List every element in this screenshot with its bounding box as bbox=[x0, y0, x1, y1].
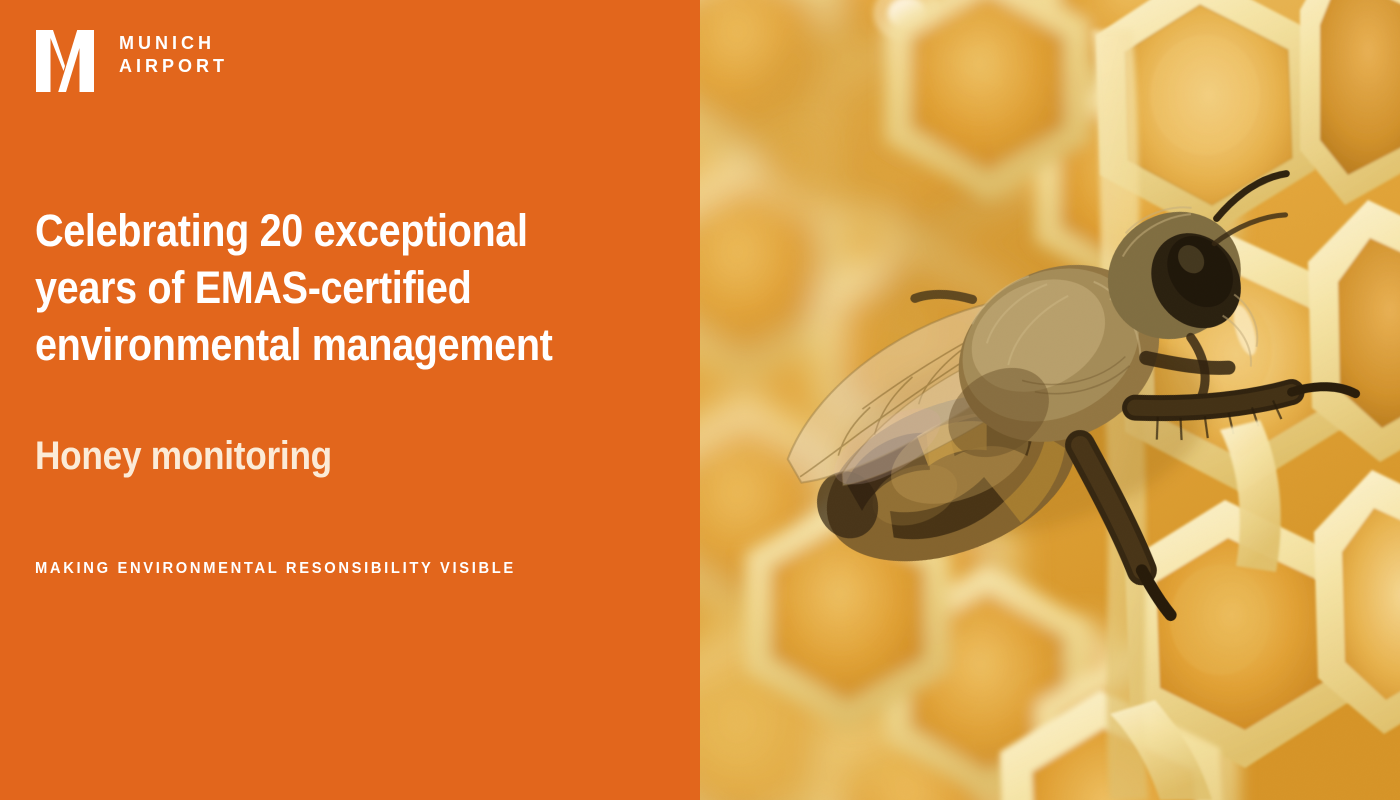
poster: MUNICH AIRPORT Celebrating 20 exceptiona… bbox=[0, 0, 1400, 800]
honeybee-honeycomb-photo bbox=[700, 0, 1400, 800]
honeycomb-illustration bbox=[700, 0, 1400, 800]
wordmark-line-airport: AIRPORT bbox=[119, 55, 228, 78]
munich-airport-wordmark: MUNICH AIRPORT bbox=[119, 26, 228, 78]
wordmark-line-munich: MUNICH bbox=[119, 32, 228, 55]
munich-airport-logo: MUNICH AIRPORT bbox=[33, 26, 228, 96]
page-subheadline: Honey monitoring bbox=[35, 432, 598, 480]
page-headline: Celebrating 20 exceptional years of EMAS… bbox=[35, 202, 598, 373]
brand-panel: MUNICH AIRPORT Celebrating 20 exceptiona… bbox=[0, 0, 700, 800]
munich-airport-m-logo-icon bbox=[33, 26, 97, 96]
page-tagline: MAKING ENVIRONMENTAL RESONSIBILITY VISIB… bbox=[35, 558, 642, 580]
